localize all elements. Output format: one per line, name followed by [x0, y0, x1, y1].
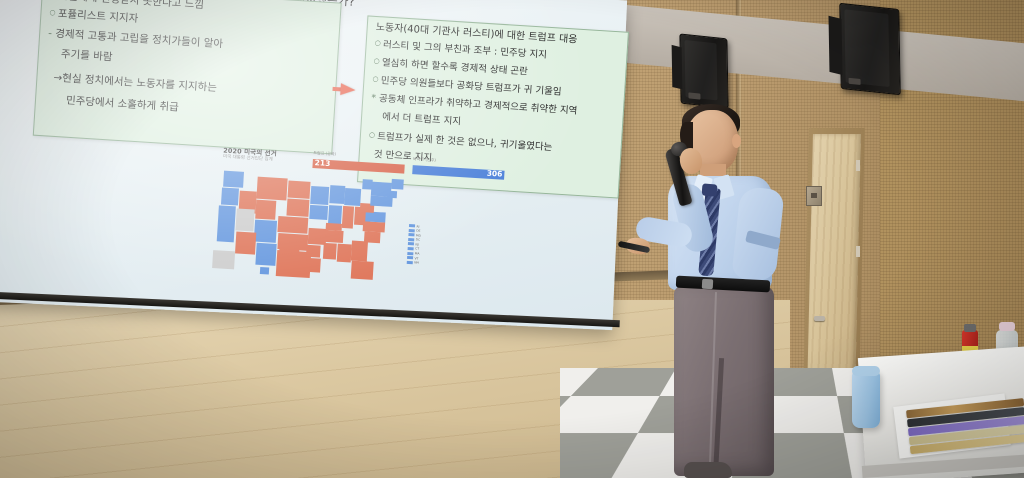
state-nd — [288, 181, 311, 199]
state-sd — [286, 199, 309, 217]
speaker-grille — [844, 9, 889, 87]
red-right-arrow-icon — [340, 83, 356, 96]
slide-left-panel: 남들에게 인정받지 못한다고 느낌 포퓰리스트 지지자 경제적 고통과 고립을 … — [33, 0, 342, 154]
state-ma — [387, 191, 397, 199]
state-in — [342, 206, 354, 229]
state-ak — [212, 250, 235, 269]
state-az — [235, 231, 256, 254]
state-ga — [351, 241, 368, 262]
water-bottle-cap — [999, 322, 1015, 331]
state-ia — [309, 205, 328, 220]
speaker-grille — [684, 40, 717, 100]
bar-biden-value: 306 — [486, 169, 502, 180]
legend-item-4: NJ — [415, 242, 418, 246]
state-mn — [310, 186, 329, 205]
map-legend: RI DE MD DC NJ CT MA VT NH — [407, 224, 433, 267]
legend-item-8: NH — [414, 261, 419, 265]
bar-trump: 트럼프 (공화) 213 — [312, 154, 405, 173]
fire-extinguisher-valve — [964, 324, 976, 332]
state-nc — [363, 221, 386, 232]
door-hinge-top — [856, 160, 860, 171]
speaker-bracket — [829, 16, 843, 75]
presenter-trousers — [674, 286, 774, 476]
state-mt — [256, 177, 287, 201]
state-sc — [364, 231, 381, 243]
legend-item-1: DE — [416, 229, 420, 233]
bar-biden-label: 바이든 (민주) — [413, 156, 436, 163]
state-tn — [325, 230, 344, 243]
state-ky — [326, 223, 342, 231]
water-tumbler-cap — [852, 366, 880, 376]
state-hi — [260, 267, 269, 275]
legend-item-5: CT — [415, 247, 419, 251]
state-fl — [351, 261, 374, 280]
state-wy — [255, 200, 276, 220]
screenshot-root: 외로운 사람 들은 왜 트럼프를 지지했는가? 남들에게 인정받지 못한다고 느… — [0, 0, 1024, 478]
presenter-ear — [732, 134, 741, 148]
presenter-tie-knot — [702, 183, 718, 196]
state-or — [221, 188, 239, 206]
state-me — [391, 179, 404, 190]
state-wa — [223, 171, 244, 188]
presenter — [620, 96, 840, 478]
state-lake — [362, 179, 373, 190]
speaker-badge — [849, 78, 861, 85]
state-ok — [279, 244, 300, 255]
state-co — [254, 220, 277, 243]
legend-item-7: VT — [414, 256, 418, 260]
speaker-right-icon — [839, 3, 900, 95]
state-al — [337, 244, 352, 263]
slide-content: 외로운 사람 들은 왜 트럼프를 지지했는가? 남들에게 인정받지 못한다고 느… — [3, 0, 611, 302]
belt-buckle — [702, 279, 714, 290]
speaker-bracket — [672, 45, 683, 90]
state-ar — [306, 245, 321, 258]
election-map-chart: 2020 미국의 선거 미국 대통령 선거인단 집계 트럼프 (공화) 213 … — [210, 142, 438, 290]
state-ne — [277, 216, 308, 234]
water-tumbler — [852, 370, 880, 428]
state-nv — [235, 208, 254, 231]
state-mi — [344, 188, 361, 206]
bar-trump-label: 트럼프 (공화) — [313, 150, 336, 157]
usa-map: RI DE MD DC NJ CT MA VT NH — [210, 164, 436, 289]
legend-item-0: RI — [416, 224, 419, 228]
state-ms — [323, 243, 337, 260]
state-va — [365, 211, 386, 222]
state-ca — [217, 205, 236, 242]
door-hinge-bottom — [856, 246, 860, 257]
state-nm — [255, 243, 276, 266]
projector-screen: 외로운 사람 들은 왜 트럼프를 지지했는가? 남들에게 인정받지 못한다고 느… — [0, 0, 627, 330]
state-la — [306, 258, 321, 273]
presenter-shoe — [684, 462, 732, 478]
bar-trump-value: 213 — [314, 158, 330, 169]
state-wi — [329, 185, 345, 204]
